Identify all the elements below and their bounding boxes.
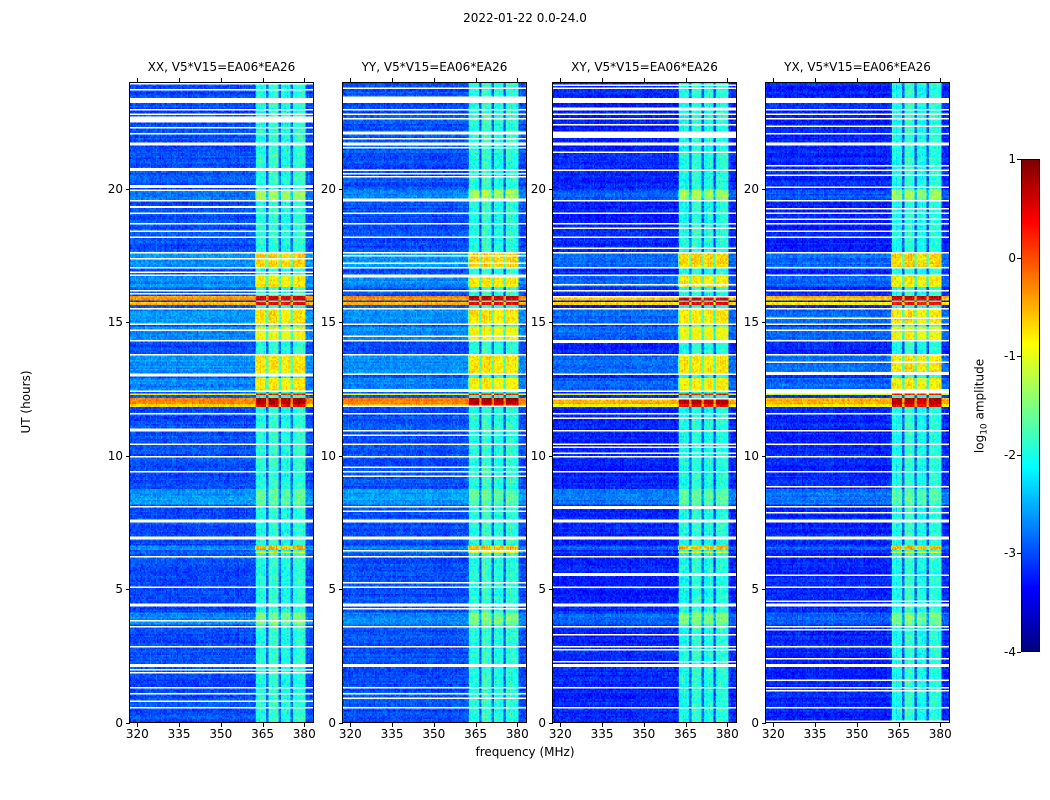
- x-tick-label: 350: [209, 727, 232, 741]
- y-tick-mark: [762, 456, 766, 457]
- colorbar-label: log10 amplitude: [972, 359, 989, 453]
- y-tick-label: 20: [531, 182, 546, 196]
- x-tick-label: 335: [804, 727, 827, 741]
- x-tick-mark-top: [221, 78, 222, 82]
- x-tick-label: 365: [674, 727, 697, 741]
- panel-title-yx: YX, V5*V15=EA06*EA26: [765, 60, 950, 74]
- colorbar-tick-mark: [1017, 455, 1021, 456]
- x-tick-mark-top: [560, 78, 561, 82]
- y-tick-mark: [126, 589, 130, 590]
- y-tick-mark: [126, 723, 130, 724]
- x-tick-mark-top: [137, 78, 138, 82]
- panel-title-xy: XY, V5*V15=EA06*EA26: [552, 60, 737, 74]
- y-tick-mark: [549, 723, 553, 724]
- y-tick-mark: [126, 456, 130, 457]
- waterfall-panel-xx[interactable]: [129, 82, 314, 723]
- colorbar-label-main: log: [972, 435, 986, 453]
- y-tick-mark: [549, 189, 553, 190]
- x-tick-mark-top: [899, 78, 900, 82]
- y-tick-label: 10: [108, 449, 123, 463]
- y-tick-mark: [339, 189, 343, 190]
- y-tick-label: 10: [744, 449, 759, 463]
- x-tick-labels-panel-2: 320335350365380: [342, 727, 527, 743]
- x-tick-label: 320: [126, 727, 149, 741]
- x-tick-label: 365: [464, 727, 487, 741]
- y-tick-label: 20: [321, 182, 336, 196]
- y-tick-mark: [762, 189, 766, 190]
- x-tick-mark-top: [857, 78, 858, 82]
- colorbar-tick-label: -2: [1004, 448, 1016, 462]
- colorbar-tick-label: -4: [1004, 645, 1016, 659]
- waterfall-panel-yx[interactable]: [765, 82, 950, 723]
- y-tick-label: 0: [115, 716, 123, 730]
- figure-suptitle: 2022-01-22 0.0-24.0: [0, 11, 1050, 25]
- waterfall-panel-xy[interactable]: [552, 82, 737, 723]
- y-tick-label: 0: [538, 716, 546, 730]
- colorbar-tick-mark: [1017, 356, 1021, 357]
- x-tick-label: 335: [168, 727, 191, 741]
- x-tick-mark-top: [350, 78, 351, 82]
- x-tick-label: 380: [716, 727, 739, 741]
- x-tick-mark-top: [773, 78, 774, 82]
- y-tick-label: 15: [744, 315, 759, 329]
- y-tick-label: 10: [531, 449, 546, 463]
- x-tick-label: 380: [929, 727, 952, 741]
- y-tick-label: 20: [108, 182, 123, 196]
- x-tick-mark-top: [815, 78, 816, 82]
- figure-canvas: 2022-01-22 0.0-24.0 UT (hours) frequency…: [0, 0, 1050, 800]
- x-tick-label: 350: [422, 727, 445, 741]
- x-tick-label: 380: [293, 727, 316, 741]
- x-tick-mark-top: [644, 78, 645, 82]
- y-tick-mark: [549, 456, 553, 457]
- colorbar-tick-labels: -4-3-2-101: [992, 159, 1016, 652]
- colorbar-tick-mark: [1017, 159, 1021, 160]
- x-tick-mark-top: [434, 78, 435, 82]
- x-tick-label: 380: [506, 727, 529, 741]
- x-tick-mark-top: [263, 78, 264, 82]
- x-tick-label: 320: [762, 727, 785, 741]
- colorbar-tick-label: -1: [1004, 349, 1016, 363]
- colorbar-tick-label: 1: [1008, 152, 1016, 166]
- colorbar-label-tail: amplitude: [972, 359, 986, 423]
- x-tick-label: 335: [381, 727, 404, 741]
- y-tick-labels-panel-2: 05101520: [306, 82, 336, 723]
- y-tick-label: 5: [751, 582, 759, 596]
- x-tick-labels-panel-3: 320335350365380: [552, 727, 737, 743]
- colorbar-tick-mark: [1017, 652, 1021, 653]
- y-tick-label: 5: [328, 582, 336, 596]
- y-tick-mark: [339, 456, 343, 457]
- y-tick-label: 5: [538, 582, 546, 596]
- y-tick-labels-panel-4: 05101520: [729, 82, 759, 723]
- y-tick-labels-panel-1: 05101520: [93, 82, 123, 723]
- y-tick-label: 0: [751, 716, 759, 730]
- y-tick-mark: [339, 723, 343, 724]
- panel-title-yy: YY, V5*V15=EA06*EA26: [342, 60, 527, 74]
- y-axis-label: UT (hours): [19, 370, 33, 433]
- x-tick-label: 350: [845, 727, 868, 741]
- y-tick-label: 0: [328, 716, 336, 730]
- x-tick-label: 350: [632, 727, 655, 741]
- x-tick-mark-top: [476, 78, 477, 82]
- y-tick-labels-panel-3: 05101520: [516, 82, 546, 723]
- x-tick-labels-panel-4: 320335350365380: [765, 727, 950, 743]
- y-tick-label: 15: [108, 315, 123, 329]
- y-tick-mark: [762, 322, 766, 323]
- x-tick-label: 365: [251, 727, 274, 741]
- x-tick-label: 320: [339, 727, 362, 741]
- y-tick-mark: [339, 322, 343, 323]
- y-tick-mark: [549, 322, 553, 323]
- y-tick-mark: [339, 589, 343, 590]
- waterfall-panel-yy[interactable]: [342, 82, 527, 723]
- panel-title-xx: XX, V5*V15=EA06*EA26: [129, 60, 314, 74]
- colorbar-tick-mark: [1017, 258, 1021, 259]
- y-tick-mark: [762, 723, 766, 724]
- colorbar-tick-label: -3: [1004, 546, 1016, 560]
- y-tick-label: 15: [531, 315, 546, 329]
- x-tick-mark-top: [686, 78, 687, 82]
- x-tick-mark-top: [602, 78, 603, 82]
- x-tick-mark-top: [179, 78, 180, 82]
- y-tick-label: 15: [321, 315, 336, 329]
- y-tick-label: 5: [115, 582, 123, 596]
- colorbar-tick-mark: [1017, 553, 1021, 554]
- colorbar-label-sub: 10: [980, 423, 990, 434]
- x-axis-label: frequency (MHz): [0, 745, 1050, 759]
- colorbar-tick-label: 0: [1008, 251, 1016, 265]
- y-tick-label: 10: [321, 449, 336, 463]
- colorbar: [1021, 159, 1040, 652]
- y-tick-mark: [126, 322, 130, 323]
- y-tick-mark: [762, 589, 766, 590]
- x-tick-label: 335: [591, 727, 614, 741]
- y-tick-mark: [126, 189, 130, 190]
- x-tick-label: 365: [887, 727, 910, 741]
- x-tick-mark-top: [392, 78, 393, 82]
- y-tick-label: 20: [744, 182, 759, 196]
- x-tick-mark-top: [940, 78, 941, 82]
- x-tick-labels-panel-1: 320335350365380: [129, 727, 314, 743]
- x-tick-label: 320: [549, 727, 572, 741]
- y-tick-mark: [549, 589, 553, 590]
